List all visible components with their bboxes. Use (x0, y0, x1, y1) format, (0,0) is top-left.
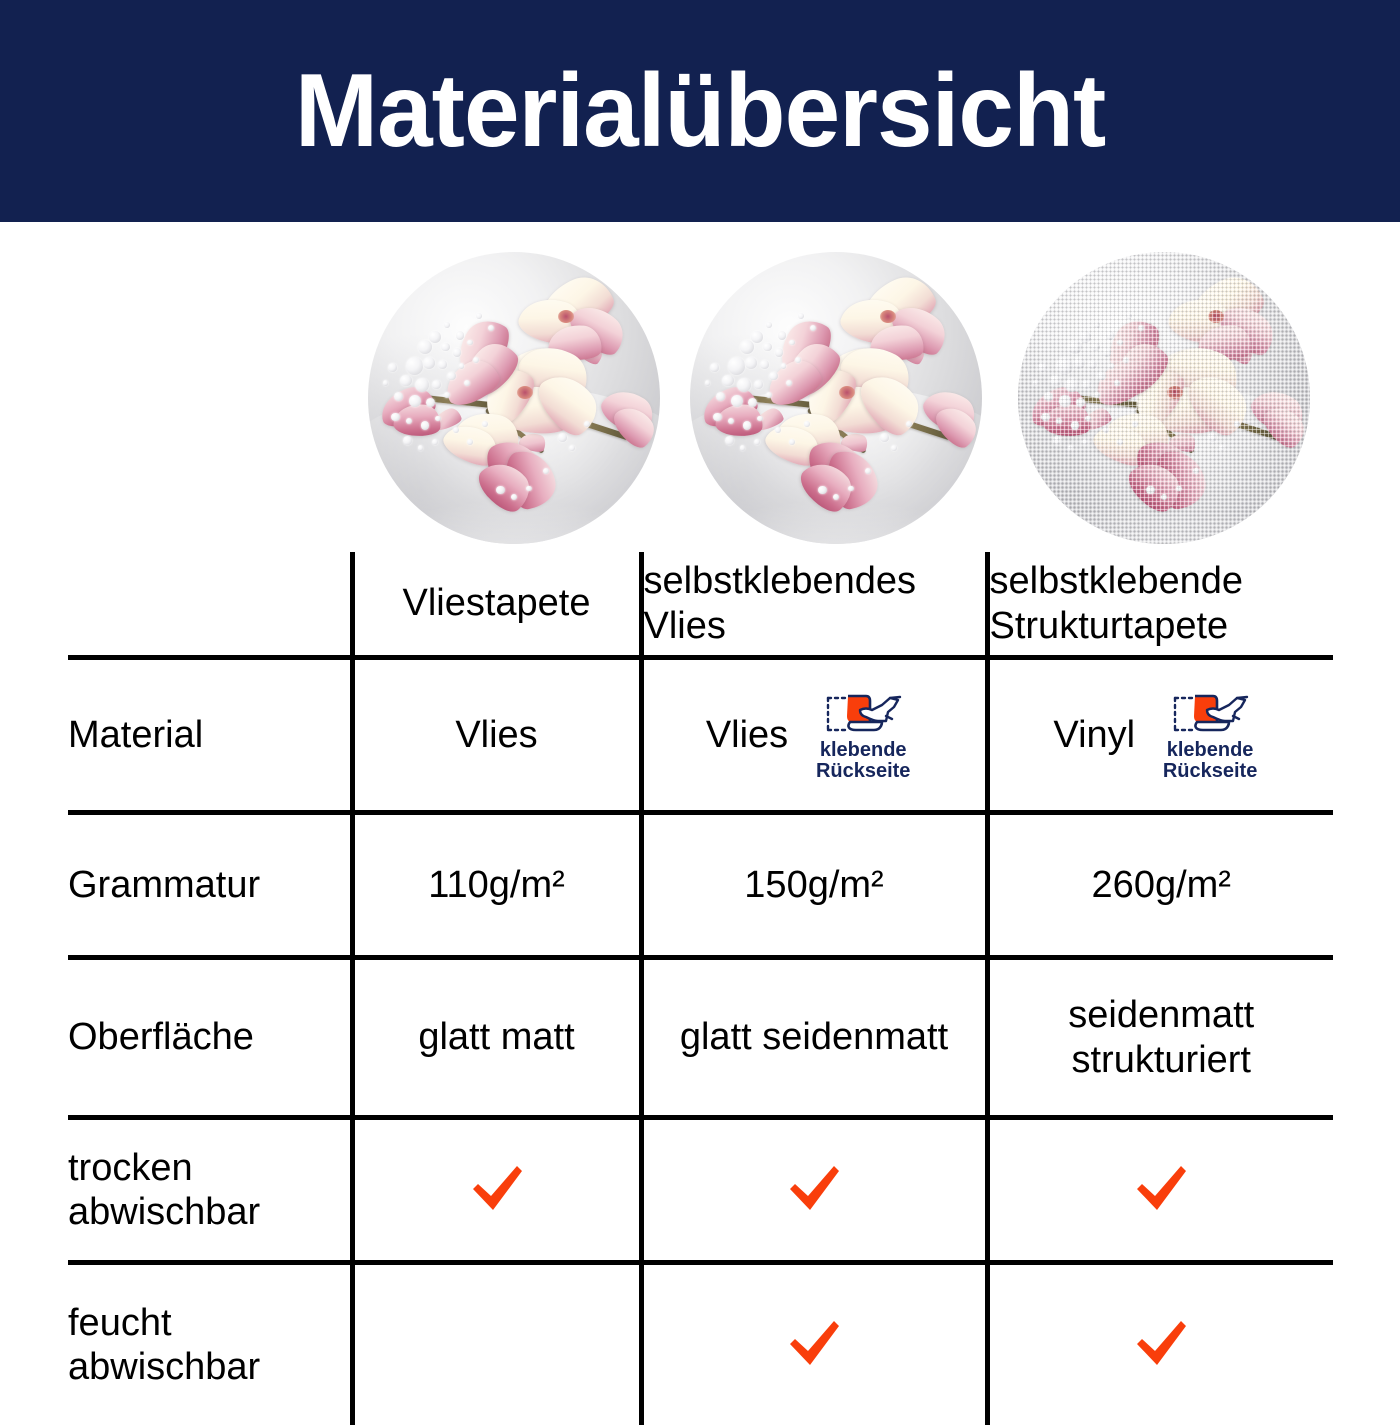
cell-trocken-col1 (352, 1118, 641, 1263)
peel-adhesive-backing-icon (1167, 688, 1253, 740)
table-header-row: Vliestapete selbstklebendes Vlies selbst… (68, 552, 1333, 658)
pearl-droplet (558, 433, 567, 442)
pearl-droplet (763, 343, 772, 352)
checkmark-icon (784, 1160, 844, 1220)
cell-material-col3: Vinyl (987, 658, 1333, 813)
cell-material-col2-value: Vlies (706, 713, 788, 757)
pearl-droplet (415, 378, 430, 393)
table-row-trocken-abwischbar: trocken abwischbar (68, 1118, 1333, 1263)
pearl-droplet (476, 313, 482, 319)
cell-oberflaeche-col1: glatt matt (352, 958, 641, 1118)
checkmark-icon (784, 1315, 844, 1375)
checkmark-icon (467, 1160, 527, 1220)
pearl-droplet (473, 357, 479, 363)
table-row-grammatur: Grammatur 110g/m² 150g/m² 260g/m² (68, 813, 1333, 958)
pearl-droplet (781, 363, 787, 369)
row-label-grammatur: Grammatur (68, 813, 352, 958)
peel-adhesive-backing-icon (820, 688, 906, 740)
cell-grammatur-col2: 150g/m² (641, 813, 987, 958)
checkmark-icon (1131, 1315, 1191, 1375)
pearl-droplet (543, 468, 549, 474)
pearl-droplet (766, 322, 772, 328)
cell-grammatur-col3: 260g/m² (987, 813, 1333, 958)
pearl-droplet (426, 398, 435, 407)
adhesive-backing-badge: klebende Rückseite (1151, 688, 1269, 782)
pearl-droplet (760, 360, 769, 369)
swatch-selbstklebendes-vlies (690, 252, 982, 544)
pearl-droplet (526, 486, 532, 492)
pearl-droplet (766, 392, 772, 398)
cell-material-col1: Vlies (352, 658, 641, 813)
pearl-droplet (456, 331, 465, 340)
pearl-droplet (488, 325, 494, 331)
pearl-droplet (423, 357, 435, 369)
pearl-droplet (409, 395, 421, 407)
swatch-vliestapete (368, 252, 660, 544)
header-cell-col3: selbstklebende Strukturtapete (987, 552, 1333, 658)
pearl-droplet (710, 363, 719, 372)
pearl-droplet (748, 398, 757, 407)
magnolia-artwork (368, 252, 660, 544)
checkmark-icon (1131, 1160, 1191, 1220)
table-row-oberflaeche: Oberfläche glatt matt glatt seidenmatt s… (68, 958, 1333, 1118)
pearl-droplet (751, 331, 763, 343)
pearl-droplet (880, 433, 889, 442)
pearl-droplet (388, 363, 397, 372)
cell-feucht-col2 (641, 1263, 987, 1425)
pearl-droplet (441, 343, 450, 352)
pearl-droplet (444, 322, 450, 328)
table-row-feucht-abwischbar: feucht abwischbar (68, 1263, 1333, 1425)
pearl-droplet (406, 357, 424, 375)
header-cell-col1: Vliestapete (352, 552, 641, 658)
swatch-strukturtapete (1018, 252, 1310, 544)
pearl-droplet (438, 360, 447, 369)
cell-material-col3-value: Vinyl (1053, 713, 1135, 757)
pearl-droplet (383, 380, 389, 386)
material-comparison-table: Vliestapete selbstklebendes Vlies selbst… (68, 552, 1333, 1425)
pearl-droplet (447, 372, 456, 381)
pearl-droplet (432, 439, 438, 445)
pearl-droplet (453, 427, 459, 433)
pearl-droplet (789, 439, 795, 445)
pearl-droplet (403, 436, 412, 445)
header-cell-col2: selbstklebendes Vlies (641, 552, 987, 658)
pearl-droplet (482, 421, 488, 427)
pearl-droplet (432, 380, 441, 389)
pearl-droplet (775, 427, 781, 433)
badge-label-line2: Rückseite (1163, 761, 1258, 782)
pearl-droplet (444, 392, 450, 398)
pearl-droplet (810, 325, 816, 331)
row-label-material: Material (68, 658, 352, 813)
pearl-droplet (740, 340, 755, 355)
adhesive-backing-badge: klebende Rückseite (804, 688, 922, 782)
pearl-droplet (731, 395, 743, 407)
pearl-droplet (394, 392, 403, 401)
row-label-oberflaeche: Oberfläche (68, 958, 352, 1118)
pearl-droplet (728, 357, 746, 375)
pearl-droplet (745, 357, 757, 369)
badge-label-line2: Rückseite (816, 761, 911, 782)
page-title: Materialübersicht (295, 59, 1105, 163)
row-label-trocken-abwischbar: trocken abwischbar (68, 1118, 352, 1263)
badge-label-line1: klebende (820, 740, 907, 761)
pearl-droplet (795, 357, 801, 363)
cell-feucht-col1 (352, 1263, 641, 1425)
pearl-droplet (737, 378, 752, 393)
pearl-droplet (716, 392, 725, 401)
cell-feucht-col3 (987, 1263, 1333, 1425)
row-label-feucht-abwischbar: feucht abwischbar (68, 1263, 352, 1425)
pearl-droplet (418, 340, 433, 355)
swatch-row (0, 252, 1400, 552)
pearl-droplet (459, 363, 465, 369)
pearl-droplet (754, 439, 760, 445)
pearl-droplet (754, 380, 763, 389)
pearl-droplet (848, 486, 854, 492)
cell-oberflaeche-col2: glatt seidenmatt (641, 958, 987, 1118)
cell-trocken-col2 (641, 1118, 987, 1263)
pearl-droplet (705, 380, 711, 386)
pearl-droplet (778, 331, 787, 340)
pearl-droplet (740, 445, 746, 451)
pearl-droplet (804, 421, 810, 427)
pearl-droplet (400, 375, 412, 387)
cell-grammatur-col1: 110g/m² (352, 813, 641, 958)
pearl-droplet (467, 439, 473, 445)
woven-texture-highlight (1018, 252, 1310, 544)
pearl-droplet (865, 468, 871, 474)
pearl-droplet (891, 445, 897, 451)
pearl-droplet (798, 313, 804, 319)
pearl-droplet (418, 445, 424, 451)
pearl-droplet (769, 372, 778, 381)
cell-trocken-col3 (987, 1118, 1333, 1263)
header-banner: Materialübersicht (0, 0, 1400, 222)
magnolia-artwork (690, 252, 982, 544)
pearl-droplet (725, 436, 734, 445)
pearl-droplet (722, 375, 734, 387)
cell-oberflaeche-col3: seidenmatt strukturiert (987, 958, 1333, 1118)
header-cell-blank (68, 552, 352, 658)
table-row-material: Material Vlies Vlies (68, 658, 1333, 813)
pearl-droplet (569, 445, 575, 451)
pearl-droplet (429, 331, 441, 343)
badge-label-line1: klebende (1167, 740, 1254, 761)
cell-material-col2: Vlies (641, 658, 987, 813)
